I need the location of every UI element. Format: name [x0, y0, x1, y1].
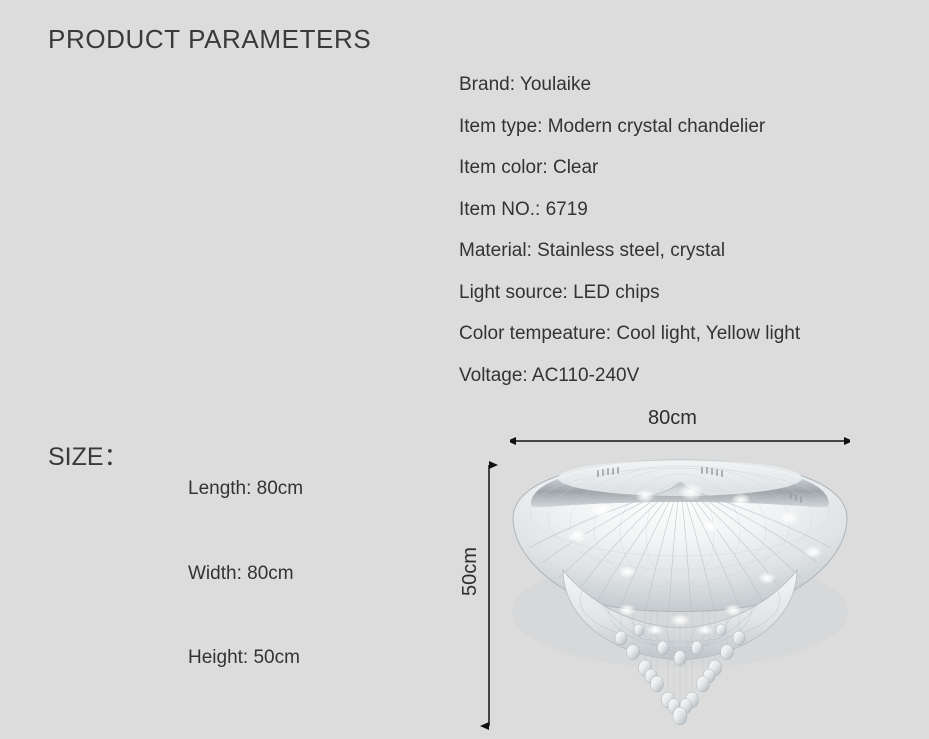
page-title: PRODUCT PARAMETERS [48, 24, 371, 55]
parameter-line-color-temperature: Color tempeature: Cool light, Yellow lig… [459, 313, 899, 355]
width-dimension-arrow [510, 430, 850, 452]
height-dimension-arrow [476, 458, 502, 733]
parameter-line-item-no: Item NO.: 6719 [459, 189, 899, 231]
parameter-line-voltage: Voltage: AC110-240V [459, 355, 899, 397]
size-line-length: Length: 80cm [188, 478, 303, 500]
parameter-line-item-color: Item color: Clear [459, 147, 899, 189]
size-line-width: Width: 80cm [188, 563, 294, 585]
product-chandelier-image [505, 452, 855, 737]
parameter-line-item-type: Item type: Modern crystal chandelier [459, 106, 899, 148]
parameter-line-brand: Brand: Youlaike [459, 64, 899, 106]
product-parameters-page: PRODUCT PARAMETERS Brand: Youlaike Item … [0, 0, 929, 739]
size-heading: SIZE： [48, 437, 129, 473]
size-line-height: Height: 50cm [188, 647, 300, 669]
diagram-width-label: 80cm [648, 407, 697, 430]
parameter-list: Brand: Youlaike Item type: Modern crysta… [459, 64, 899, 396]
parameter-line-material: Material: Stainless steel, crystal [459, 230, 899, 272]
parameter-line-light-source: Light source: LED chips [459, 272, 899, 314]
